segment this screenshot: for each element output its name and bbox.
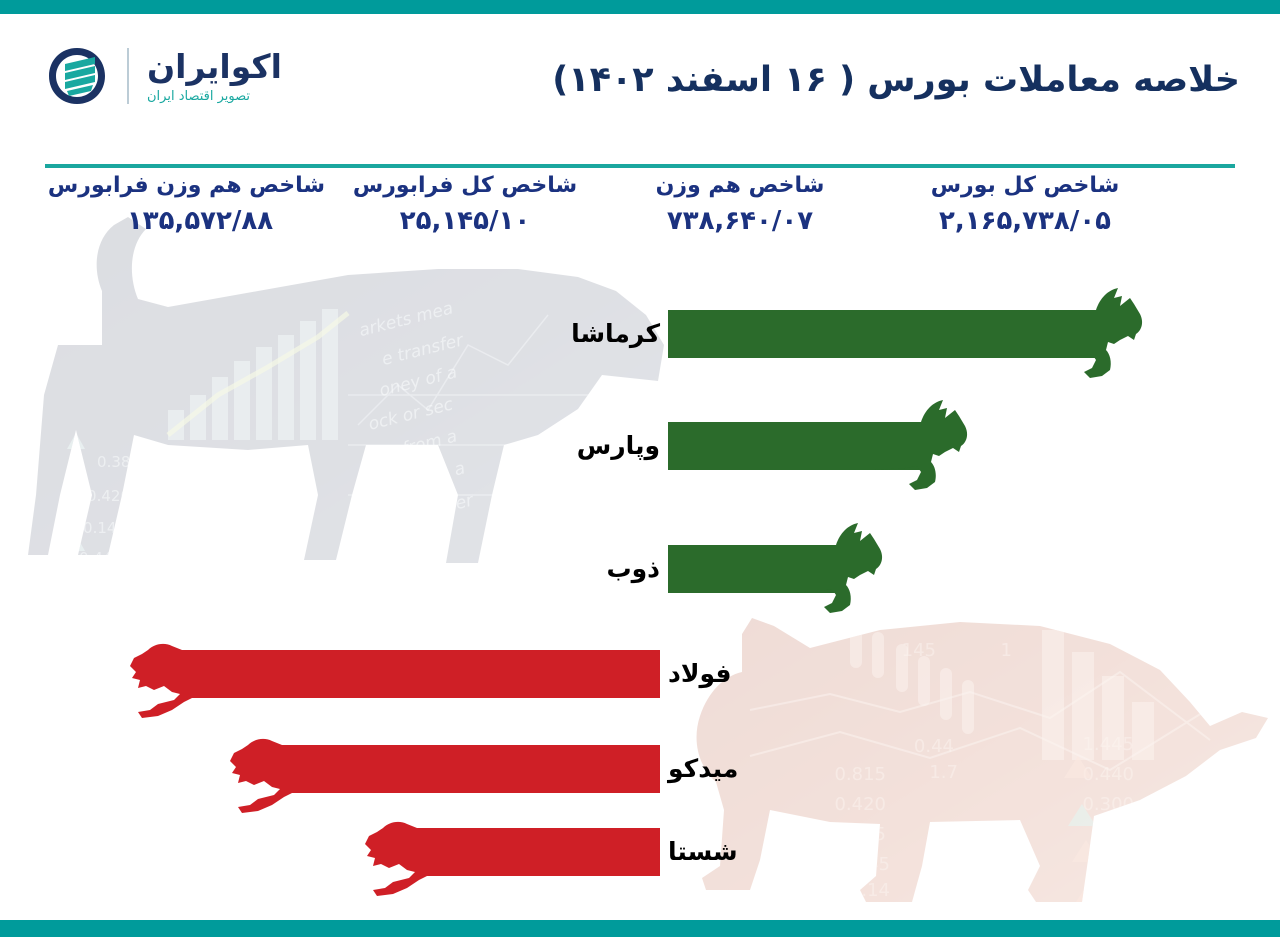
chart-row-positive-3: ذوب xyxy=(668,545,894,593)
bar-negative-2 xyxy=(290,745,660,793)
bull-head-icon xyxy=(875,396,975,496)
index-label: شاخص هم وزن xyxy=(615,172,865,200)
bear-head-icon xyxy=(128,624,228,724)
index-stat-hamvazn-farabours: شاخص هم وزن فرابورس ۱۳۵,۵۷۲/۸۸ xyxy=(75,172,325,239)
chart-row-negative-1: فولاد xyxy=(128,650,660,698)
infographic-page: خلاصه معاملات بورس ( ۱۶ اسفند ۱۴۰۲) اکوا… xyxy=(0,0,1280,937)
index-stat-kol-farabours: شاخص کل فرابورس ۲۵,۱۴۵/۱۰ xyxy=(340,172,590,239)
index-label: شاخص هم وزن فرابورس xyxy=(75,172,325,200)
chart-row-negative-2: میدکو xyxy=(228,745,660,793)
index-value: ۲۵,۱۴۵/۱۰ xyxy=(340,204,590,239)
bear-head-icon xyxy=(228,719,328,819)
bar-negative-1 xyxy=(190,650,660,698)
bear-head-icon xyxy=(363,802,463,902)
index-value: ۱۳۵,۵۷۲/۸۸ xyxy=(75,204,325,239)
chart-row-label-positive-3: ذوب xyxy=(607,554,661,583)
bar-positive-1 xyxy=(668,310,1098,358)
chart-row-label-negative-1: فولاد xyxy=(668,659,732,688)
chart-row-negative-3: شستا xyxy=(363,828,660,876)
chart-row-label-positive-2: وپارس xyxy=(577,431,660,460)
index-value: ۷۳۸,۶۴۰/۰۷ xyxy=(615,204,865,239)
index-label: شاخص کل بورس xyxy=(880,172,1170,200)
effect-bar-chart: کرماشا وپارس ذوب xyxy=(0,0,1280,937)
index-stat-hamvazn: شاخص هم وزن ۷۳۸,۶۴۰/۰۷ xyxy=(615,172,865,239)
chart-row-label-negative-2: میدکو xyxy=(668,754,738,783)
bull-head-icon xyxy=(1050,284,1150,384)
index-stat-kol-bourse: شاخص کل بورس ۲,۱۶۵,۷۳۸/۰۵ xyxy=(880,172,1170,239)
index-label: شاخص کل فرابورس xyxy=(340,172,590,200)
chart-row-positive-1: کرماشا xyxy=(668,310,1150,358)
chart-row-label-positive-1: کرماشا xyxy=(571,319,660,348)
index-value: ۲,۱۶۵,۷۳۸/۰۵ xyxy=(880,204,1170,239)
chart-row-label-negative-3: شستا xyxy=(668,837,738,866)
bull-head-icon xyxy=(790,519,890,619)
chart-row-positive-2: وپارس xyxy=(668,422,978,470)
index-stats-row: شاخص هم وزن فرابورس ۱۳۵,۵۷۲/۸۸ شاخص کل ف… xyxy=(0,172,1280,267)
